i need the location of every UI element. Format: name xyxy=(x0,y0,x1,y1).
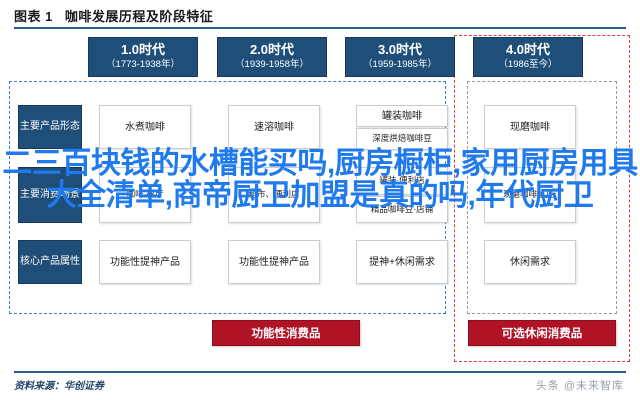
coffee-evolution-table: 1.0时代 （1773-1938年） 2.0时代 （1939-1958年） 3.… xyxy=(0,32,640,362)
cell-product-form-era3-a: 罐装咖啡 xyxy=(356,105,448,127)
row-label-product-form: 主要产品形态 xyxy=(18,105,82,149)
page-title: 图表 1咖啡发展历程及阶段特征 xyxy=(14,6,213,25)
cell-consumption-scene-era1: 咖啡·餐厅 xyxy=(99,167,191,223)
site-watermark: 头条 @未来智库 xyxy=(536,377,624,393)
column-header-era-3: 3.0时代 （1959-1985年） xyxy=(345,37,455,77)
cell-consumption-scene-era3-a: 罐装·便利店 xyxy=(356,167,448,195)
column-header-era-1: 1.0时代 （1773-1938年） xyxy=(88,37,198,77)
era-1-name: 1.0时代 xyxy=(121,43,165,58)
era-2-range: （1939-1958年） xyxy=(235,59,309,71)
cell-product-form-era1: 水煮咖啡 xyxy=(99,105,191,149)
footer-divider xyxy=(14,371,626,373)
figure-number: 图表 1 xyxy=(14,9,53,24)
summary-bar-functional: 功能性消费品 xyxy=(212,320,360,346)
cell-product-attribute-era2: 功能性提神产品 xyxy=(228,240,320,284)
summary-bar-leisure: 可选休闲消费品 xyxy=(468,320,616,346)
source-note: 资料来源：华创证券 xyxy=(14,377,104,392)
era-4-range: （1986至今） xyxy=(498,59,557,71)
era-2-name: 2.0时代 xyxy=(250,43,294,58)
column-header-era-2: 2.0时代 （1939-1958年） xyxy=(217,37,327,77)
era-1-range: （1773-1938年） xyxy=(106,59,180,71)
cell-consumption-scene-era3-b: 精品咖啡豆·店铺 xyxy=(356,196,448,223)
cell-consumption-scene-era4: 现磨咖啡·门店 xyxy=(484,167,576,223)
title-divider xyxy=(14,27,626,29)
cell-product-form-era4: 现磨咖啡 xyxy=(484,105,576,149)
cell-product-form-era3-b: 深度烘焙咖啡豆 xyxy=(356,128,448,150)
row-label-consumption-scene: 主要消费场景 xyxy=(18,167,82,223)
row-label-product-attribute: 核心产品属性 xyxy=(18,240,82,284)
cell-product-attribute-era4: 休闲需求 xyxy=(484,240,576,284)
era-4-name: 4.0时代 xyxy=(506,43,550,58)
cell-product-form-era2: 速溶咖啡 xyxy=(228,105,320,149)
cell-product-attribute-era3: 提神+休闲需求 xyxy=(356,240,448,284)
figure-title-text: 咖啡发展历程及阶段特征 xyxy=(65,9,214,24)
era-3-name: 3.0时代 xyxy=(378,43,422,58)
cell-product-attribute-era1: 功能性提神产品 xyxy=(99,240,191,284)
column-header-era-4: 4.0时代 （1986至今） xyxy=(473,37,583,77)
era-3-range: （1959-1985年） xyxy=(363,59,437,71)
cell-consumption-scene-era2: 超市、便利店 xyxy=(228,167,320,223)
